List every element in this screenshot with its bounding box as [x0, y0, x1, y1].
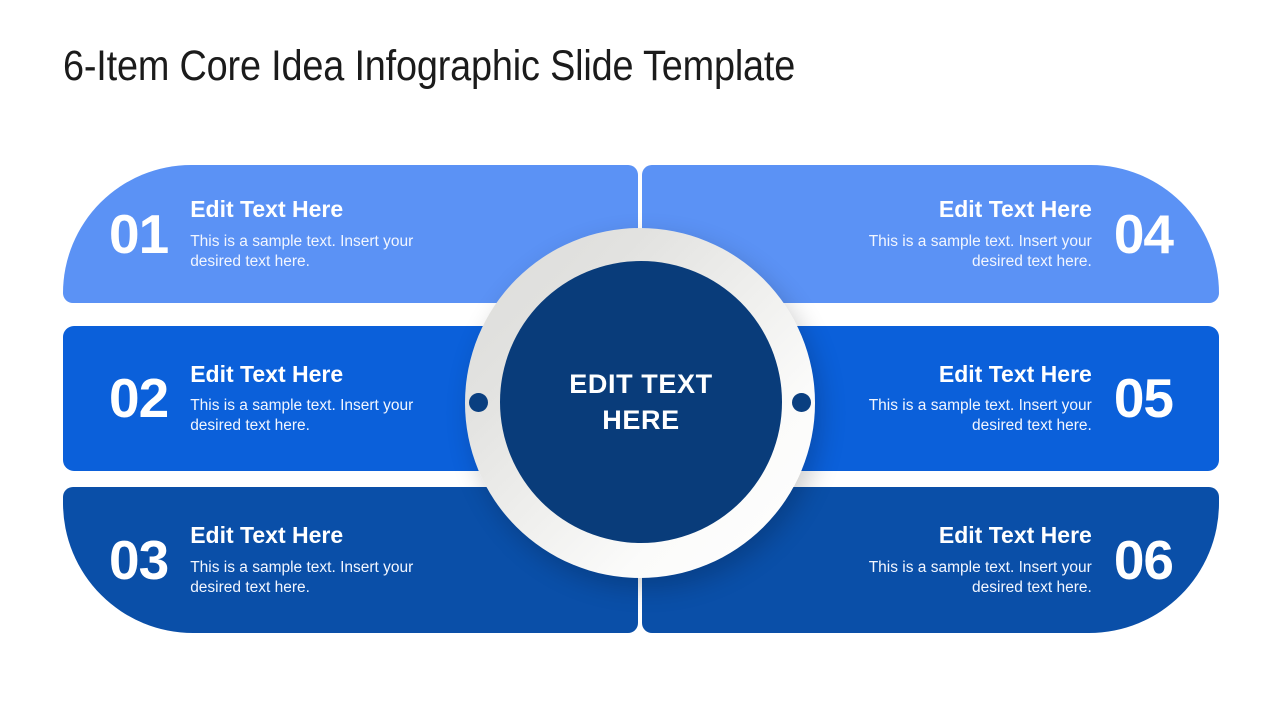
card-number-04: 04	[1114, 207, 1173, 262]
card-text-block: Edit Text Here This is a sample text. In…	[824, 196, 1092, 271]
card-number-02: 02	[109, 371, 168, 426]
hub-connector-dot-left-icon	[469, 393, 488, 412]
card-description-06: This is a sample text. Insert your desir…	[824, 558, 1092, 598]
card-number-03: 03	[109, 533, 168, 588]
center-hub[interactable]: EDIT TEXT HERE	[465, 228, 815, 578]
card-heading-04: Edit Text Here	[824, 196, 1092, 222]
card-text-block: Edit Text Here This is a sample text. In…	[190, 196, 458, 271]
card-text-block: Edit Text Here This is a sample text. In…	[190, 361, 458, 436]
slide-canvas: 6-Item Core Idea Infographic Slide Templ…	[0, 0, 1280, 720]
card-heading-03: Edit Text Here	[190, 522, 458, 548]
card-description-01: This is a sample text. Insert your desir…	[190, 232, 458, 272]
card-text-block: Edit Text Here This is a sample text. In…	[824, 522, 1092, 597]
card-heading-01: Edit Text Here	[190, 196, 458, 222]
card-description-05: This is a sample text. Insert your desir…	[824, 396, 1092, 436]
hub-core-circle[interactable]: EDIT TEXT HERE	[500, 261, 782, 543]
card-heading-02: Edit Text Here	[190, 361, 458, 387]
page-title: 6-Item Core Idea Infographic Slide Templ…	[63, 38, 1031, 94]
card-number-06: 06	[1114, 533, 1173, 588]
hub-label: EDIT TEXT HERE	[541, 366, 741, 439]
card-heading-06: Edit Text Here	[824, 522, 1092, 548]
card-text-block: Edit Text Here This is a sample text. In…	[824, 361, 1092, 436]
card-description-04: This is a sample text. Insert your desir…	[824, 232, 1092, 272]
card-number-05: 05	[1114, 371, 1173, 426]
hub-connector-dot-right-icon	[792, 393, 811, 412]
card-number-01: 01	[109, 207, 168, 262]
card-text-block: Edit Text Here This is a sample text. In…	[190, 522, 458, 597]
card-heading-05: Edit Text Here	[824, 361, 1092, 387]
card-description-02: This is a sample text. Insert your desir…	[190, 396, 458, 436]
card-description-03: This is a sample text. Insert your desir…	[190, 558, 458, 598]
